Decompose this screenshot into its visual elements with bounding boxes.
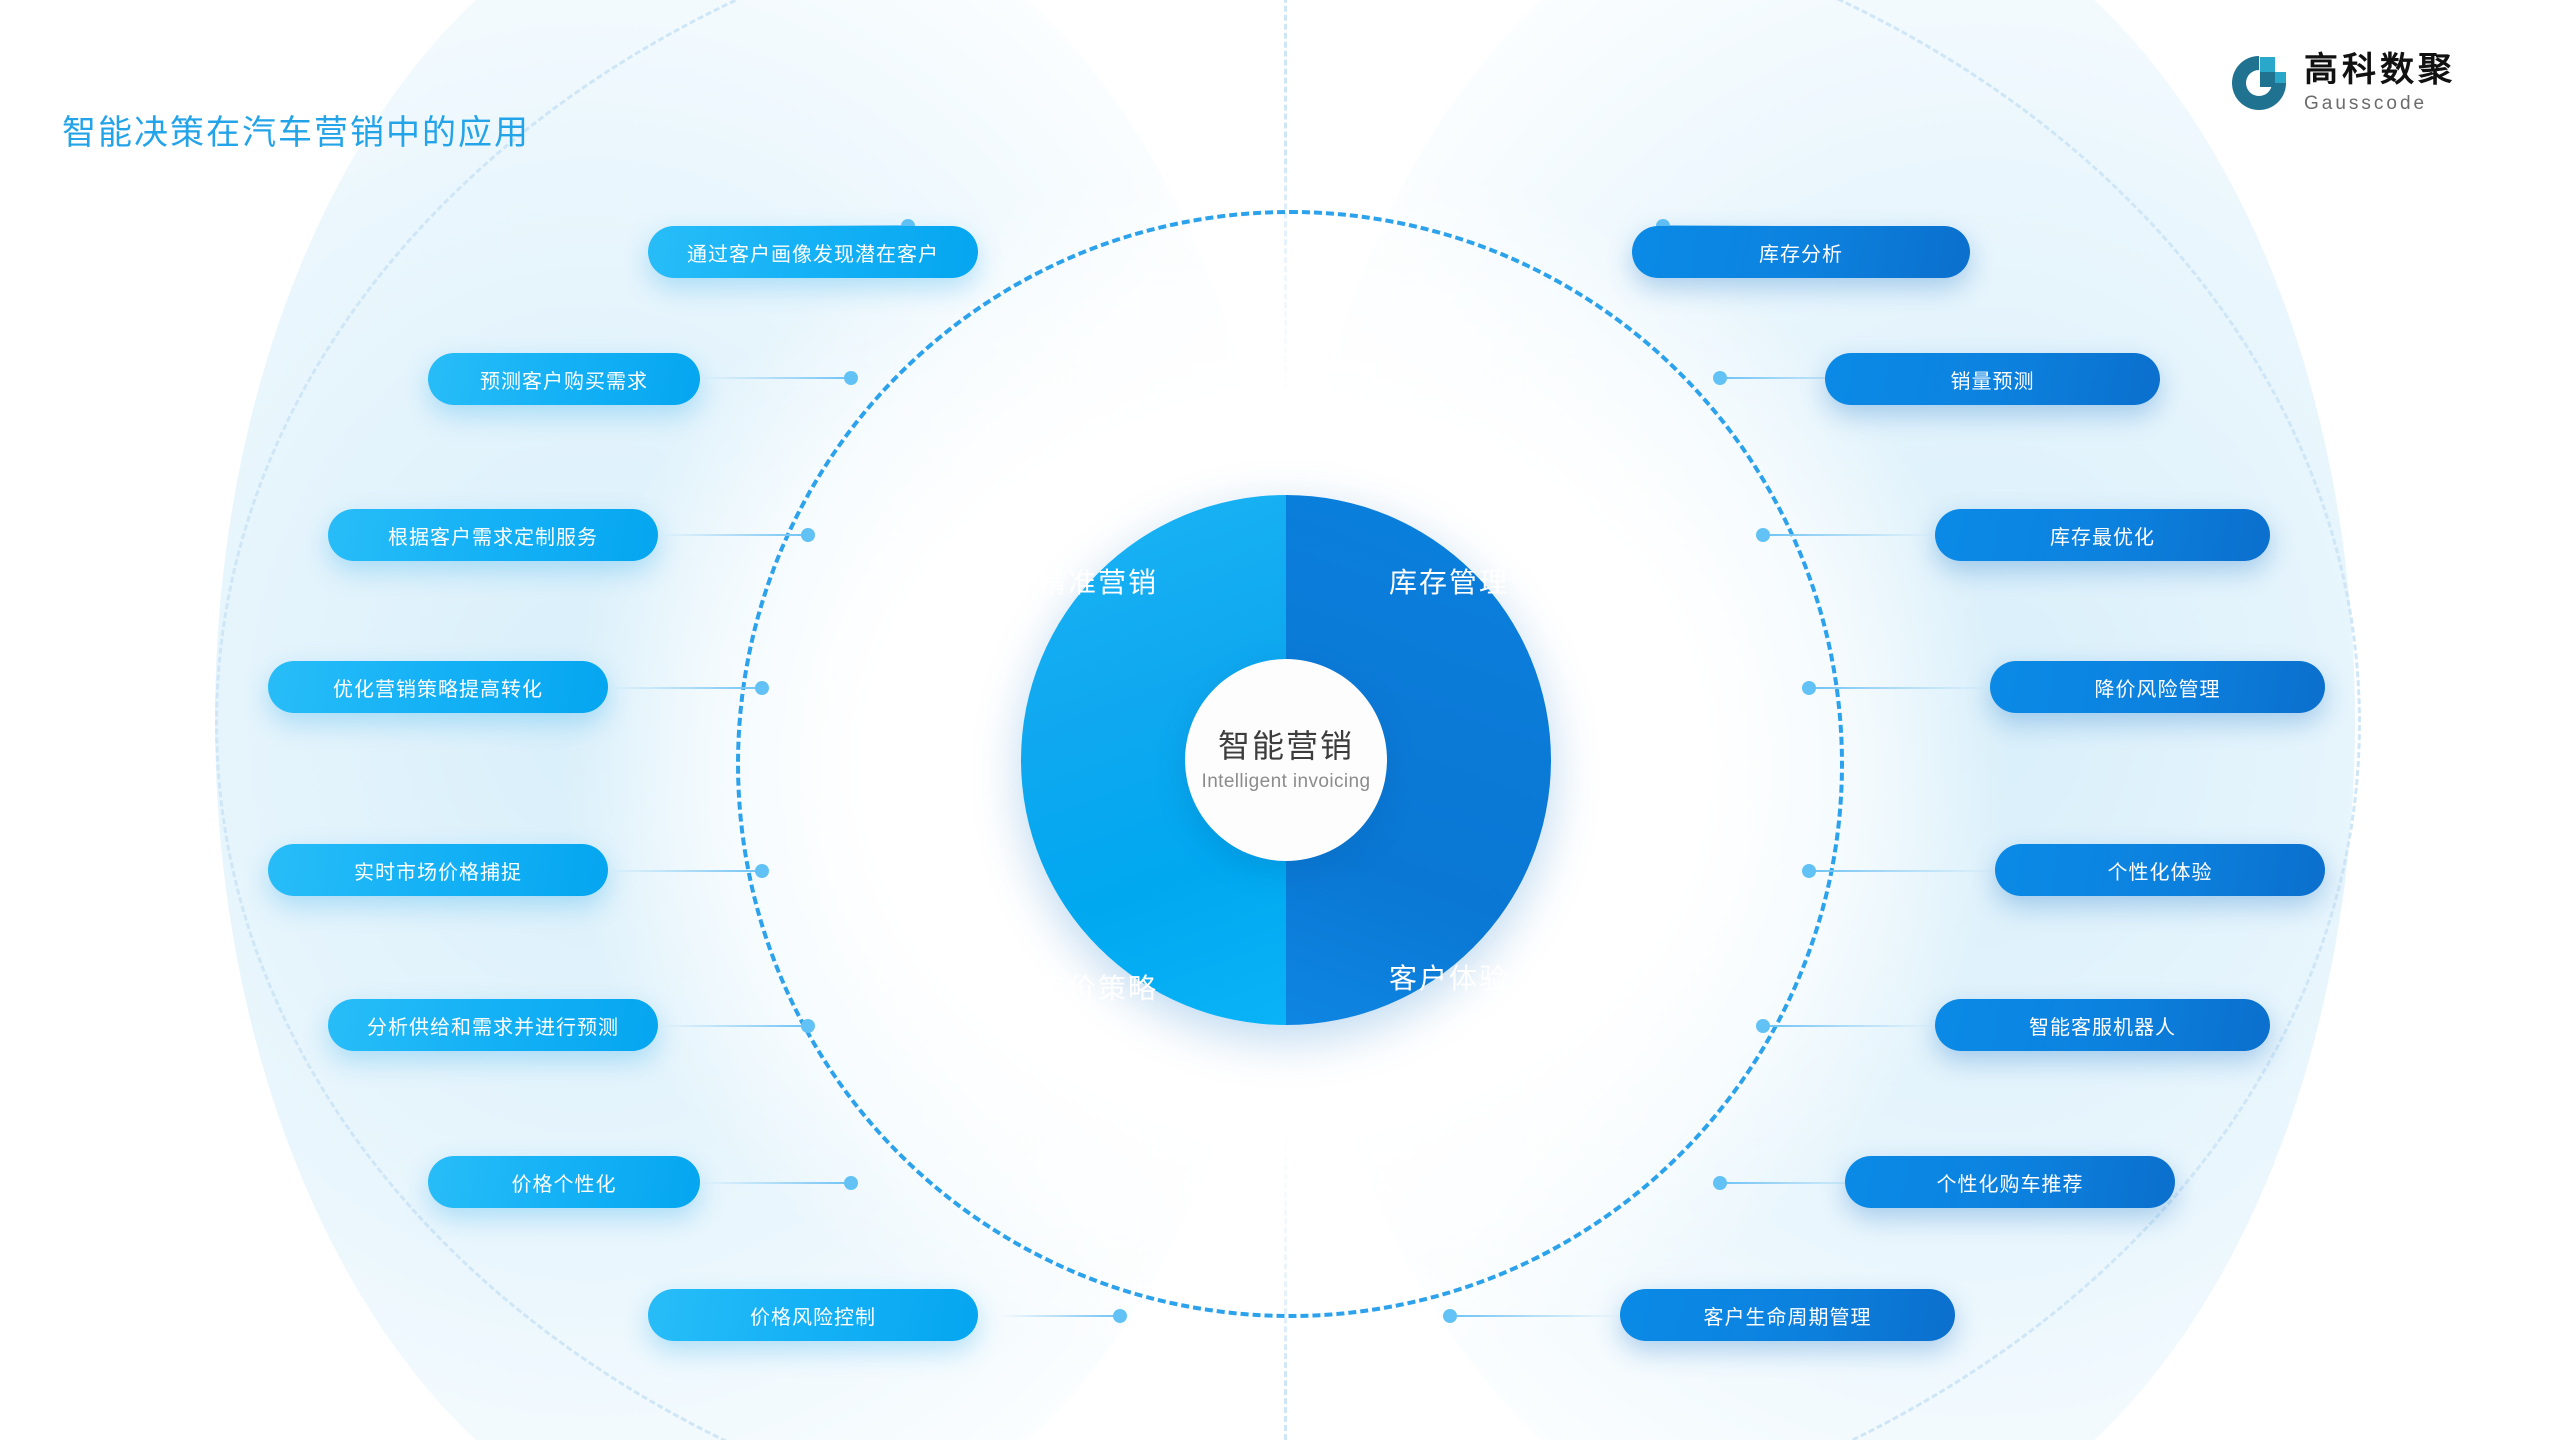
connector-dot-left-3 [801,528,815,542]
connector-line-left-2 [700,377,851,379]
connector-dot-right-5 [1802,864,1816,878]
connector-line-right-3 [1763,534,1935,536]
right-item-7-label: 个性化购车推荐 [1937,1168,2084,1197]
connector-line-right-4 [1810,687,1990,689]
connector-line-left-5 [608,870,762,872]
left-item-7[interactable]: 价格个性化 [428,1156,700,1208]
page-title: 智能决策在汽车营销中的应用 [62,105,530,154]
connector-dot-right-2 [1713,371,1727,385]
right-item-4[interactable]: 降价风险管理 [1990,661,2325,713]
connector-line-left-6 [660,1025,808,1027]
left-item-5[interactable]: 实时市场价格捕捉 [268,844,608,896]
left-item-6[interactable]: 分析供给和需求并进行预测 [328,999,658,1051]
connector-dot-left-7 [844,1176,858,1190]
infographic-canvas: 智能决策在汽车营销中的应用 高科数聚 Gausscode [0,0,2560,1440]
left-item-2-label: 预测客户购买需求 [480,365,648,394]
right-item-1-label: 库存分析 [1759,238,1843,267]
left-item-1[interactable]: 通过客户画像发现潜在客户 [648,226,978,278]
connector-line-left-7 [700,1182,851,1184]
connector-dot-right-7 [1713,1176,1727,1190]
connector-line-left-8 [1000,1315,1120,1317]
connector-dot-left-6 [801,1019,815,1033]
left-item-1-label: 通过客户画像发现潜在客户 [687,238,939,267]
logo-name-cn: 高科数聚 [2304,53,2456,87]
right-item-6-label: 智能客服机器人 [2029,1011,2176,1040]
quadrant-label-bottom-left: 定价策略 [1038,967,1158,1007]
right-item-2[interactable]: 销量预测 [1825,353,2160,405]
quadrant-label-bottom-right: 客户体验 [1389,957,1509,997]
brand-logo: 高科数聚 Gausscode [2228,52,2456,114]
connector-line-right-5 [1810,870,1995,872]
left-item-7-label: 价格个性化 [512,1168,617,1197]
connector-dot-left-2 [844,371,858,385]
left-item-8-label: 价格风险控制 [750,1301,876,1330]
connector-line-left-3 [660,534,808,536]
right-item-6[interactable]: 智能客服机器人 [1935,999,2270,1051]
donut-center-hub: 智能营销 Intelligent invoicing [1185,659,1387,861]
connector-dot-right-3 [1756,528,1770,542]
connector-line-left-4 [608,687,762,689]
right-item-5-label: 个性化体验 [2108,856,2213,885]
left-item-2[interactable]: 预测客户购买需求 [428,353,700,405]
right-item-4-label: 降价风险管理 [2095,673,2221,702]
right-item-3[interactable]: 库存最优化 [1935,509,2270,561]
left-item-4[interactable]: 优化营销策略提高转化 [268,661,608,713]
logo-name-en: Gausscode [2304,94,2456,113]
connector-dot-right-6 [1756,1019,1770,1033]
right-item-2-label: 销量预测 [1951,365,2035,394]
connector-line-right-6 [1763,1025,1935,1027]
right-item-7[interactable]: 个性化购车推荐 [1845,1156,2175,1208]
left-item-5-label: 实时市场价格捕捉 [354,856,522,885]
connector-dot-left-8 [1113,1309,1127,1323]
right-item-5[interactable]: 个性化体验 [1995,844,2325,896]
left-item-3-label: 根据客户需求定制服务 [388,521,598,550]
connector-dot-left-4 [755,681,769,695]
gausscode-logo-icon [2228,52,2290,114]
left-item-3[interactable]: 根据客户需求定制服务 [328,509,658,561]
right-item-1[interactable]: 库存分析 [1632,226,1970,278]
quadrant-label-top-right: 库存管理 [1389,561,1509,601]
center-title-en: Intelligent invoicing [1202,771,1371,793]
center-title-cn: 智能营销 [1218,727,1354,765]
right-item-8-label: 客户生命周期管理 [1704,1301,1872,1330]
left-item-8[interactable]: 价格风险控制 [648,1289,978,1341]
left-item-4-label: 优化营销策略提高转化 [333,673,543,702]
quadrant-label-top-left: 精准营销 [1038,561,1158,601]
connector-dot-right-8 [1443,1309,1457,1323]
right-item-8[interactable]: 客户生命周期管理 [1620,1289,1955,1341]
right-item-3-label: 库存最优化 [2050,521,2155,550]
left-item-6-label: 分析供给和需求并进行预测 [367,1011,619,1040]
connector-dot-left-5 [755,864,769,878]
connector-line-right-8 [1450,1315,1620,1317]
connector-dot-right-4 [1802,681,1816,695]
